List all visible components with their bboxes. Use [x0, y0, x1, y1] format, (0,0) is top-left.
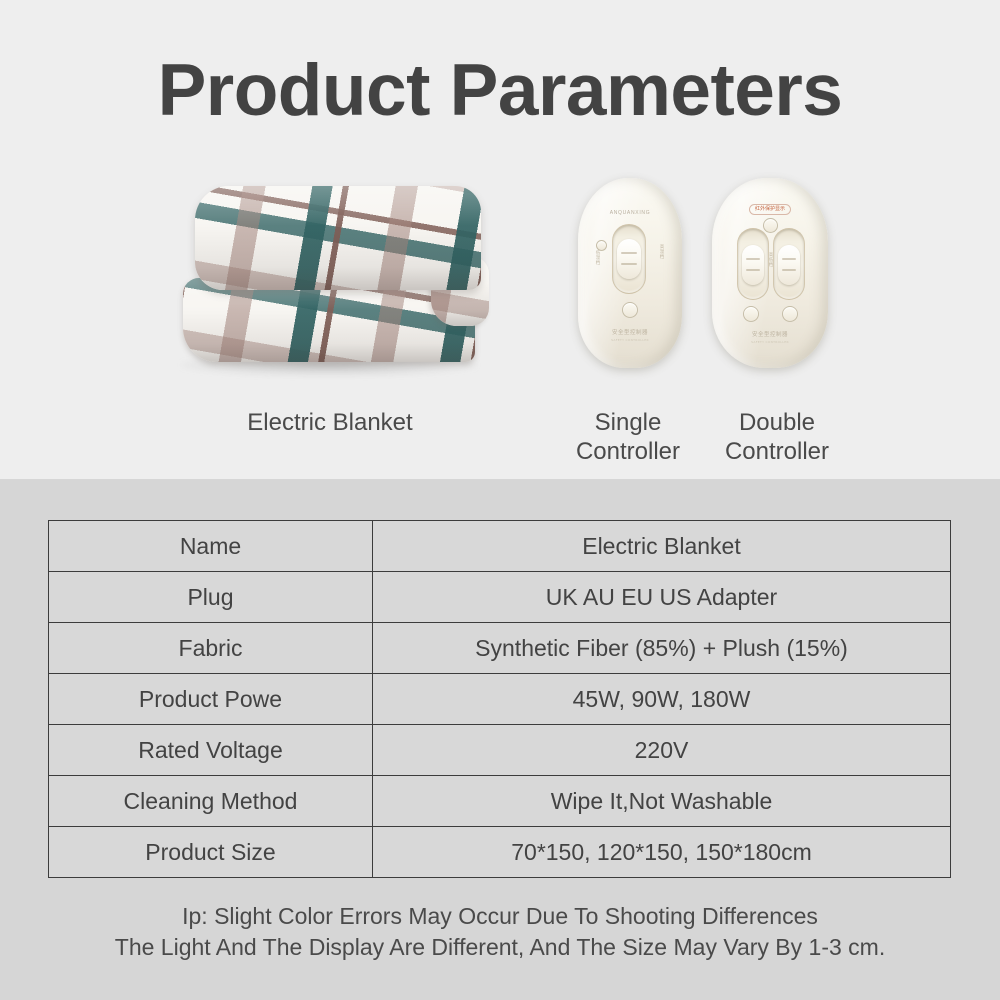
table-row: Cleaning Method Wipe It,Not Washable: [49, 776, 951, 827]
caption-text-line1: Single: [548, 408, 708, 437]
caption-text-line2: Controller: [548, 437, 708, 466]
caption-text-line2: Controller: [694, 437, 860, 466]
spec-label: Product Size: [49, 827, 373, 878]
temperature-slider-well[interactable]: [612, 224, 646, 294]
specifications-table-body: Name Electric Blanket Plug UK AU EU US A…: [49, 521, 951, 878]
knob-grip-line: [746, 258, 760, 260]
caption-electric-blanket: Electric Blanket: [150, 408, 510, 437]
controller-footer-label: 安全型控制器: [712, 330, 828, 338]
double-controller-image: 红外保护显示 高低档 安全型控制器 SAFETY CONTROLLER: [712, 178, 828, 368]
spec-label: Rated Voltage: [49, 725, 373, 776]
controller-high-label: 高温档: [658, 244, 664, 259]
spec-label: Plug: [49, 572, 373, 623]
controller-footer-sublabel: SAFETY CONTROLLER: [712, 340, 828, 344]
temperature-slider-well-left[interactable]: [737, 228, 769, 300]
knob-grip-line: [782, 269, 796, 271]
knob-grip-line: [782, 258, 796, 260]
single-controller-image: ANQUANXING 低温档 高温档 安全型控制器 SAFETY CONTROL…: [578, 178, 682, 368]
electric-blanket-image: [163, 160, 493, 375]
caption-text: Electric Blanket: [247, 409, 412, 436]
disclaimer-note: Ip: Slight Color Errors May Occur Due To…: [0, 901, 1000, 963]
spec-value: 45W, 90W, 180W: [373, 674, 951, 725]
controller-footer-sublabel: SAFETY CONTROLLER: [578, 338, 682, 342]
temperature-slider-knob-right[interactable]: [778, 245, 800, 285]
spec-label: Fabric: [49, 623, 373, 674]
hero-section: Product Parameters ANQUANXING 低温档 高温档: [0, 0, 1000, 479]
status-led-icon: [763, 218, 778, 233]
spec-label: Product Powe: [49, 674, 373, 725]
disclaimer-line2: The Light And The Display Are Different,…: [0, 932, 1000, 963]
spec-value: 220V: [373, 725, 951, 776]
plaid-pattern: [195, 186, 481, 290]
status-led-icon-left: [743, 306, 759, 322]
status-led-icon: [622, 302, 638, 318]
specifications-table: Name Electric Blanket Plug UK AU EU US A…: [48, 520, 951, 878]
caption-text-line1: Double: [694, 408, 860, 437]
table-row: Name Electric Blanket: [49, 521, 951, 572]
caption-double-controller: Double Controller: [694, 408, 860, 466]
knob-grip-line: [746, 269, 760, 271]
temperature-slider-knob[interactable]: [617, 239, 641, 279]
controller-low-label: 低温档: [594, 250, 600, 265]
table-row: Product Size 70*150, 120*150, 150*180cm: [49, 827, 951, 878]
knob-grip-line: [621, 252, 636, 254]
status-led-icon-right: [782, 306, 798, 322]
spec-value: UK AU EU US Adapter: [373, 572, 951, 623]
blanket-fold-top: [195, 186, 481, 290]
table-row: Product Powe 45W, 90W, 180W: [49, 674, 951, 725]
spec-value: 70*150, 120*150, 150*180cm: [373, 827, 951, 878]
spec-label: Cleaning Method: [49, 776, 373, 827]
table-row: Plug UK AU EU US Adapter: [49, 572, 951, 623]
specifications-section: Name Electric Blanket Plug UK AU EU US A…: [0, 479, 1000, 1000]
spec-value: Synthetic Fiber (85%) + Plush (15%): [373, 623, 951, 674]
temperature-slider-knob-left[interactable]: [742, 245, 764, 285]
controller-footer-label: 安全型控制器: [578, 328, 682, 336]
temperature-slider-well-right[interactable]: [773, 228, 805, 300]
spec-label: Name: [49, 521, 373, 572]
knob-grip-line: [621, 263, 636, 265]
page-title: Product Parameters: [0, 52, 1000, 130]
disclaimer-line1: Ip: Slight Color Errors May Occur Due To…: [0, 901, 1000, 932]
spec-value: Wipe It,Not Washable: [373, 776, 951, 827]
controller-level-label: 高低档: [767, 252, 773, 267]
caption-single-controller: Single Controller: [548, 408, 708, 466]
infrared-protection-label: 红外保护显示: [749, 204, 791, 215]
spec-value: Electric Blanket: [373, 521, 951, 572]
table-row: Rated Voltage 220V: [49, 725, 951, 776]
table-row: Fabric Synthetic Fiber (85%) + Plush (15…: [49, 623, 951, 674]
controller-brand-label: ANQUANXING: [578, 210, 682, 216]
